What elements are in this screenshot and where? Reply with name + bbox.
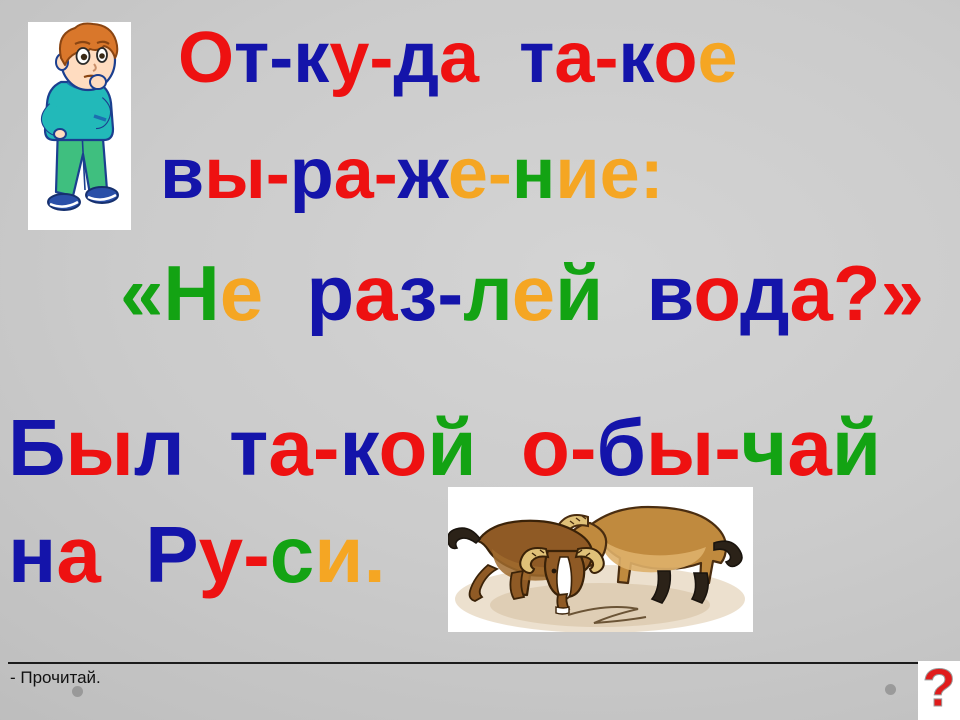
glyph: е xyxy=(698,18,738,98)
glyph: в xyxy=(160,134,204,214)
glyph: Р xyxy=(145,510,198,599)
question-mark-badge[interactable]: ? xyxy=(918,661,960,720)
glyph xyxy=(285,249,307,337)
glyph: о xyxy=(521,403,570,492)
glyph: ? xyxy=(833,249,881,337)
glyph: - xyxy=(269,18,293,98)
glyph: а xyxy=(790,249,833,337)
glyph: ч xyxy=(741,403,787,492)
glyph: т xyxy=(234,18,269,98)
glyph: - xyxy=(374,134,398,214)
glyph: й xyxy=(427,403,476,492)
glyph: з xyxy=(398,249,437,337)
glyph: ы xyxy=(204,134,266,214)
glyph: а xyxy=(787,403,832,492)
glyph xyxy=(185,403,207,492)
footer-caption: - Прочитай. xyxy=(10,668,101,688)
glyph: а xyxy=(56,510,101,599)
glyph: ж xyxy=(398,134,448,214)
glyph: и xyxy=(314,510,363,599)
glyph xyxy=(499,18,519,98)
verse-line-5: на Ру-си. xyxy=(8,515,386,595)
glyph: - xyxy=(313,403,340,492)
glyph: й xyxy=(832,403,881,492)
glyph: к xyxy=(293,18,329,98)
glyph: - xyxy=(488,134,512,214)
glyph xyxy=(477,403,499,492)
glyph: « xyxy=(120,249,163,337)
verse-line-1: От-ку-да та-кое xyxy=(178,22,738,94)
glyph: - xyxy=(369,18,393,98)
glyph xyxy=(101,510,123,599)
glyph: а xyxy=(334,134,374,214)
glyph: т xyxy=(519,18,554,98)
decorative-dot-right xyxy=(885,684,896,695)
verse-line-2: вы-ра-же-ние: xyxy=(160,138,664,210)
glyph xyxy=(479,18,499,98)
glyph: и xyxy=(555,134,599,214)
glyph xyxy=(263,249,285,337)
verse-line-3: «Не раз-лей вода?» xyxy=(120,254,924,332)
glyph: о xyxy=(693,249,740,337)
glyph xyxy=(207,403,229,492)
glyph: р xyxy=(306,249,354,337)
glyph: - xyxy=(594,18,618,98)
glyph: О xyxy=(178,18,234,98)
glyph xyxy=(603,249,625,337)
verse-line-4: Был та-кой о-бы-чай xyxy=(8,408,881,488)
footer-divider xyxy=(8,662,952,664)
glyph: н xyxy=(8,510,56,599)
glyph: к xyxy=(339,403,378,492)
glyph: д xyxy=(740,249,790,337)
decorative-dot-left xyxy=(72,686,83,697)
glyph: к xyxy=(618,18,653,98)
bulls-illustration xyxy=(448,487,753,632)
slide-canvas: От-ку-да та-кое вы-ра-же-ние: «Не раз-ле… xyxy=(0,0,960,720)
glyph: у xyxy=(329,18,369,98)
glyph: т xyxy=(229,403,268,492)
glyph: й xyxy=(555,249,603,337)
glyph: - xyxy=(437,249,463,337)
glyph: е xyxy=(512,249,555,337)
glyph: в xyxy=(646,249,693,337)
glyph: о xyxy=(378,403,427,492)
svg-text:?: ? xyxy=(923,661,956,718)
glyph: . xyxy=(363,510,385,599)
glyph xyxy=(499,403,521,492)
glyph: л xyxy=(463,249,512,337)
glyph: - xyxy=(570,403,597,492)
glyph: а xyxy=(554,18,594,98)
glyph: ы xyxy=(66,403,134,492)
glyph: » xyxy=(881,249,924,337)
glyph: а xyxy=(268,403,313,492)
glyph xyxy=(625,249,647,337)
glyph: л xyxy=(134,403,185,492)
glyph: : xyxy=(640,134,664,214)
glyph: о xyxy=(654,18,698,98)
glyph: - xyxy=(714,403,741,492)
glyph: Б xyxy=(8,403,66,492)
glyph: ы xyxy=(646,403,714,492)
glyph: е xyxy=(448,134,488,214)
glyph: а xyxy=(439,18,479,98)
glyph: н xyxy=(512,134,556,214)
glyph: е xyxy=(220,249,263,337)
glyph: б xyxy=(596,403,645,492)
glyph: Н xyxy=(163,249,219,337)
glyph: а xyxy=(354,249,398,337)
glyph: д xyxy=(393,18,439,98)
glyph: у xyxy=(199,510,244,599)
glyph: - xyxy=(243,510,270,599)
glyph: с xyxy=(270,510,315,599)
glyph: р xyxy=(290,134,334,214)
glyph xyxy=(123,510,145,599)
glyph: - xyxy=(266,134,290,214)
glyph: е xyxy=(600,134,640,214)
